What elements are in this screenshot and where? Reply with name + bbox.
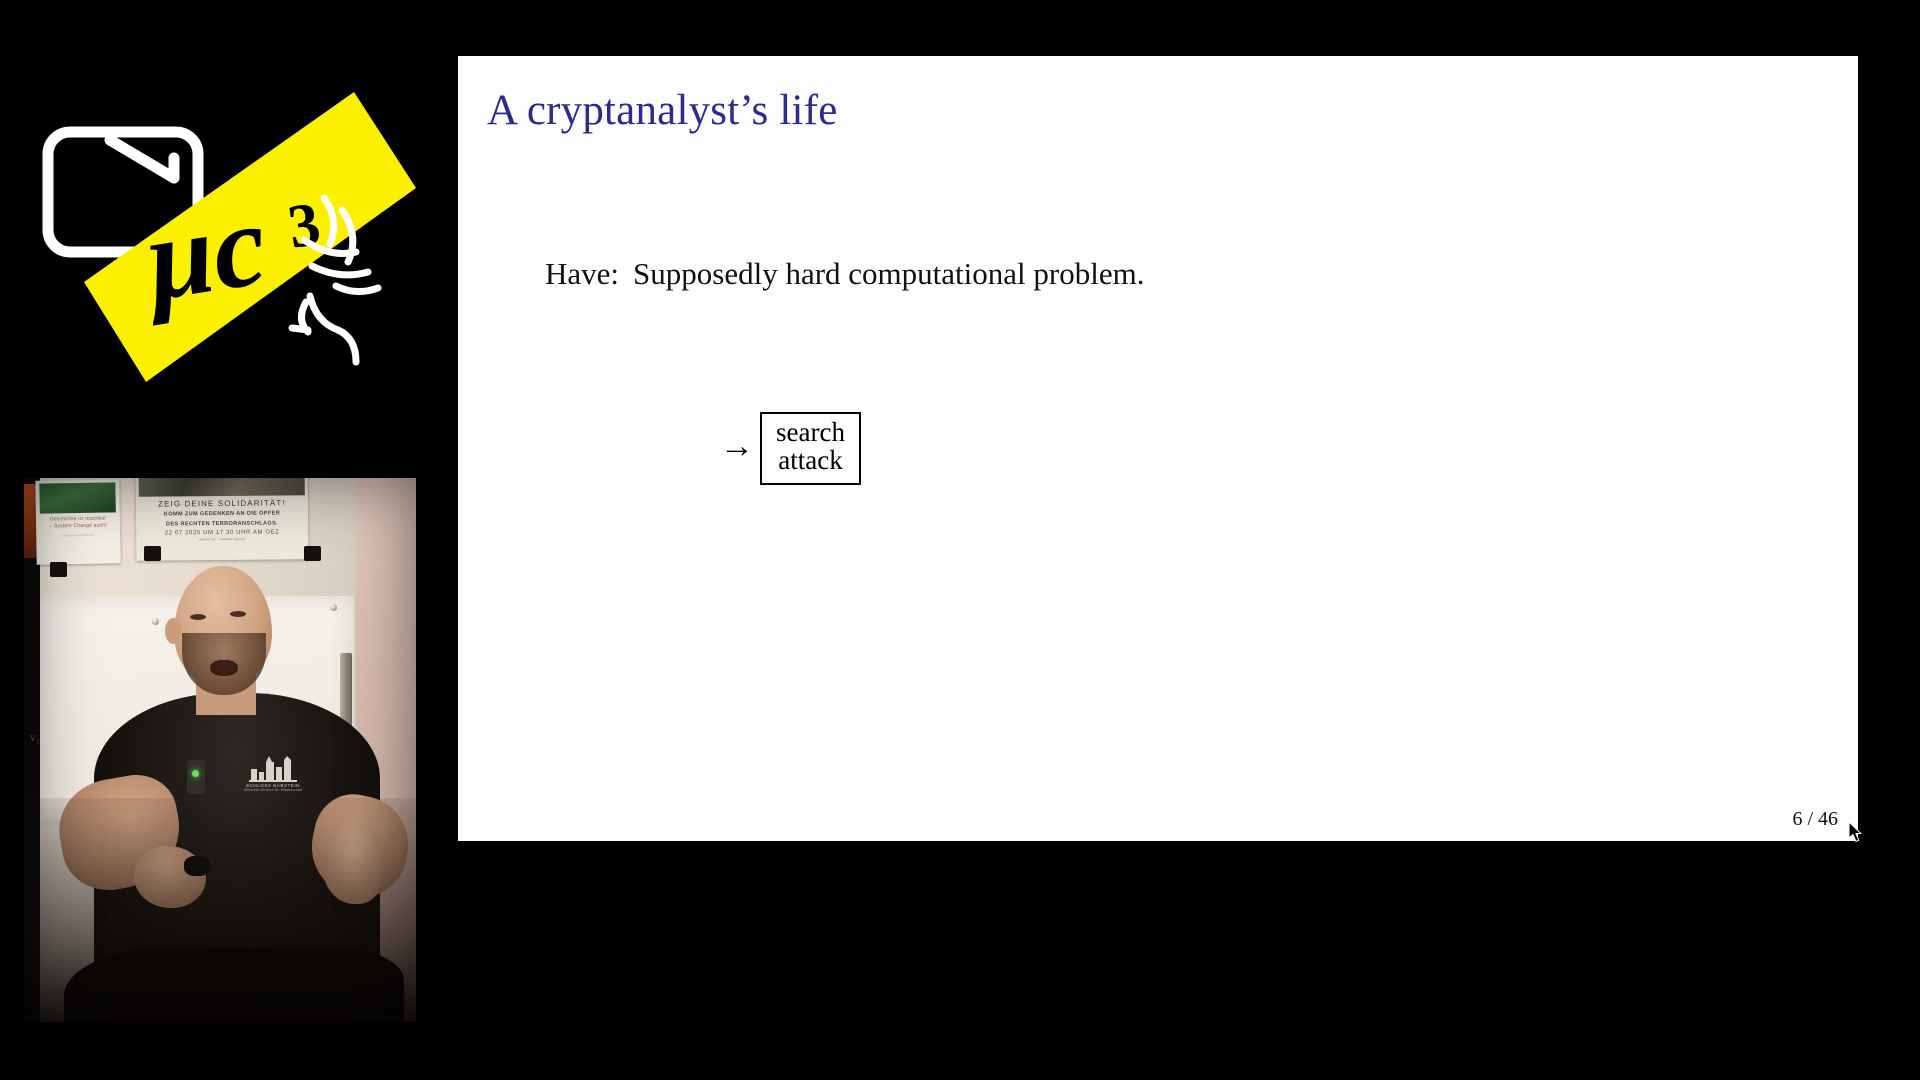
slide-body-line: Have:Supposedly hard computational probl… bbox=[545, 256, 1144, 292]
attack-box-line1: search bbox=[776, 418, 845, 446]
speaker-eye-right bbox=[230, 611, 246, 617]
poster-right-date: 22 07 2025 UM 17 30 UHR AM OEZ bbox=[136, 529, 308, 537]
poster-left-line2: – System Change auch! bbox=[36, 522, 120, 530]
tshirt-text-line2: Selbstbau Zentrum für Wissenschaft bbox=[242, 788, 304, 792]
poster-left-image bbox=[39, 482, 116, 513]
poster-right-fineprint: gedenken oez — solidaritaet muenchen bbox=[136, 537, 308, 542]
attack-diagram: → search attack bbox=[720, 412, 861, 485]
poster-right-line2: DES RECHTEN TERRORANSCHLAGS. bbox=[136, 519, 308, 529]
speaker-mouth bbox=[210, 660, 238, 676]
screen-root: μc 3 Geschichte ist machbar bbox=[0, 0, 1920, 1080]
page-indicator: 6 / 46 bbox=[1792, 808, 1838, 831]
poster-solidaritaet: ZEIG DEINE SOLIDARITÄT! KOMM ZUM GEDENKE… bbox=[136, 478, 309, 561]
magnet bbox=[152, 618, 159, 625]
tape-square bbox=[144, 546, 161, 561]
castle-icon bbox=[249, 756, 297, 782]
lavalier-mic bbox=[187, 760, 205, 794]
have-label: Have: bbox=[545, 256, 619, 291]
search-attack-box: search attack bbox=[760, 412, 861, 485]
poster-right-headline: ZEIG DEINE SOLIDARITÄT! bbox=[136, 498, 308, 509]
poster-right-image bbox=[139, 478, 305, 497]
slide-title: A cryptanalyst’s life bbox=[487, 86, 838, 135]
mic-led-icon bbox=[192, 770, 199, 777]
attack-box-line2: attack bbox=[776, 446, 845, 474]
muc3-logo: μc 3 bbox=[24, 70, 416, 410]
slide-panel[interactable]: A cryptanalyst’s life Have:Supposedly ha… bbox=[458, 56, 1858, 841]
speaker-ear bbox=[165, 618, 181, 644]
speaker-video[interactable]: Geschichte ist machbar – System Change a… bbox=[24, 478, 416, 1022]
input-arrow-icon: → bbox=[720, 430, 754, 464]
muc3-logo-graphic: μc 3 bbox=[24, 70, 416, 410]
poster-system-change: Geschichte ist machbar – System Change a… bbox=[35, 479, 120, 564]
poster-right-line1: KOMM ZUM GEDENKEN AN DIE OPFER bbox=[136, 509, 308, 519]
have-text: Supposedly hard computational problem. bbox=[633, 256, 1144, 291]
whiteboard-scribble: v₁ bbox=[30, 730, 40, 745]
room-shadow bbox=[24, 798, 416, 1022]
tape-square bbox=[50, 562, 67, 577]
speaker-eye-left bbox=[190, 614, 206, 620]
tshirt-logo: SCHLOSS BABSTEIN Selbstbau Zentrum für W… bbox=[242, 756, 304, 802]
tape-square bbox=[304, 546, 321, 561]
poster-left-fineprint: systemchange-machbar.de bbox=[36, 532, 120, 537]
magnet bbox=[330, 604, 337, 611]
